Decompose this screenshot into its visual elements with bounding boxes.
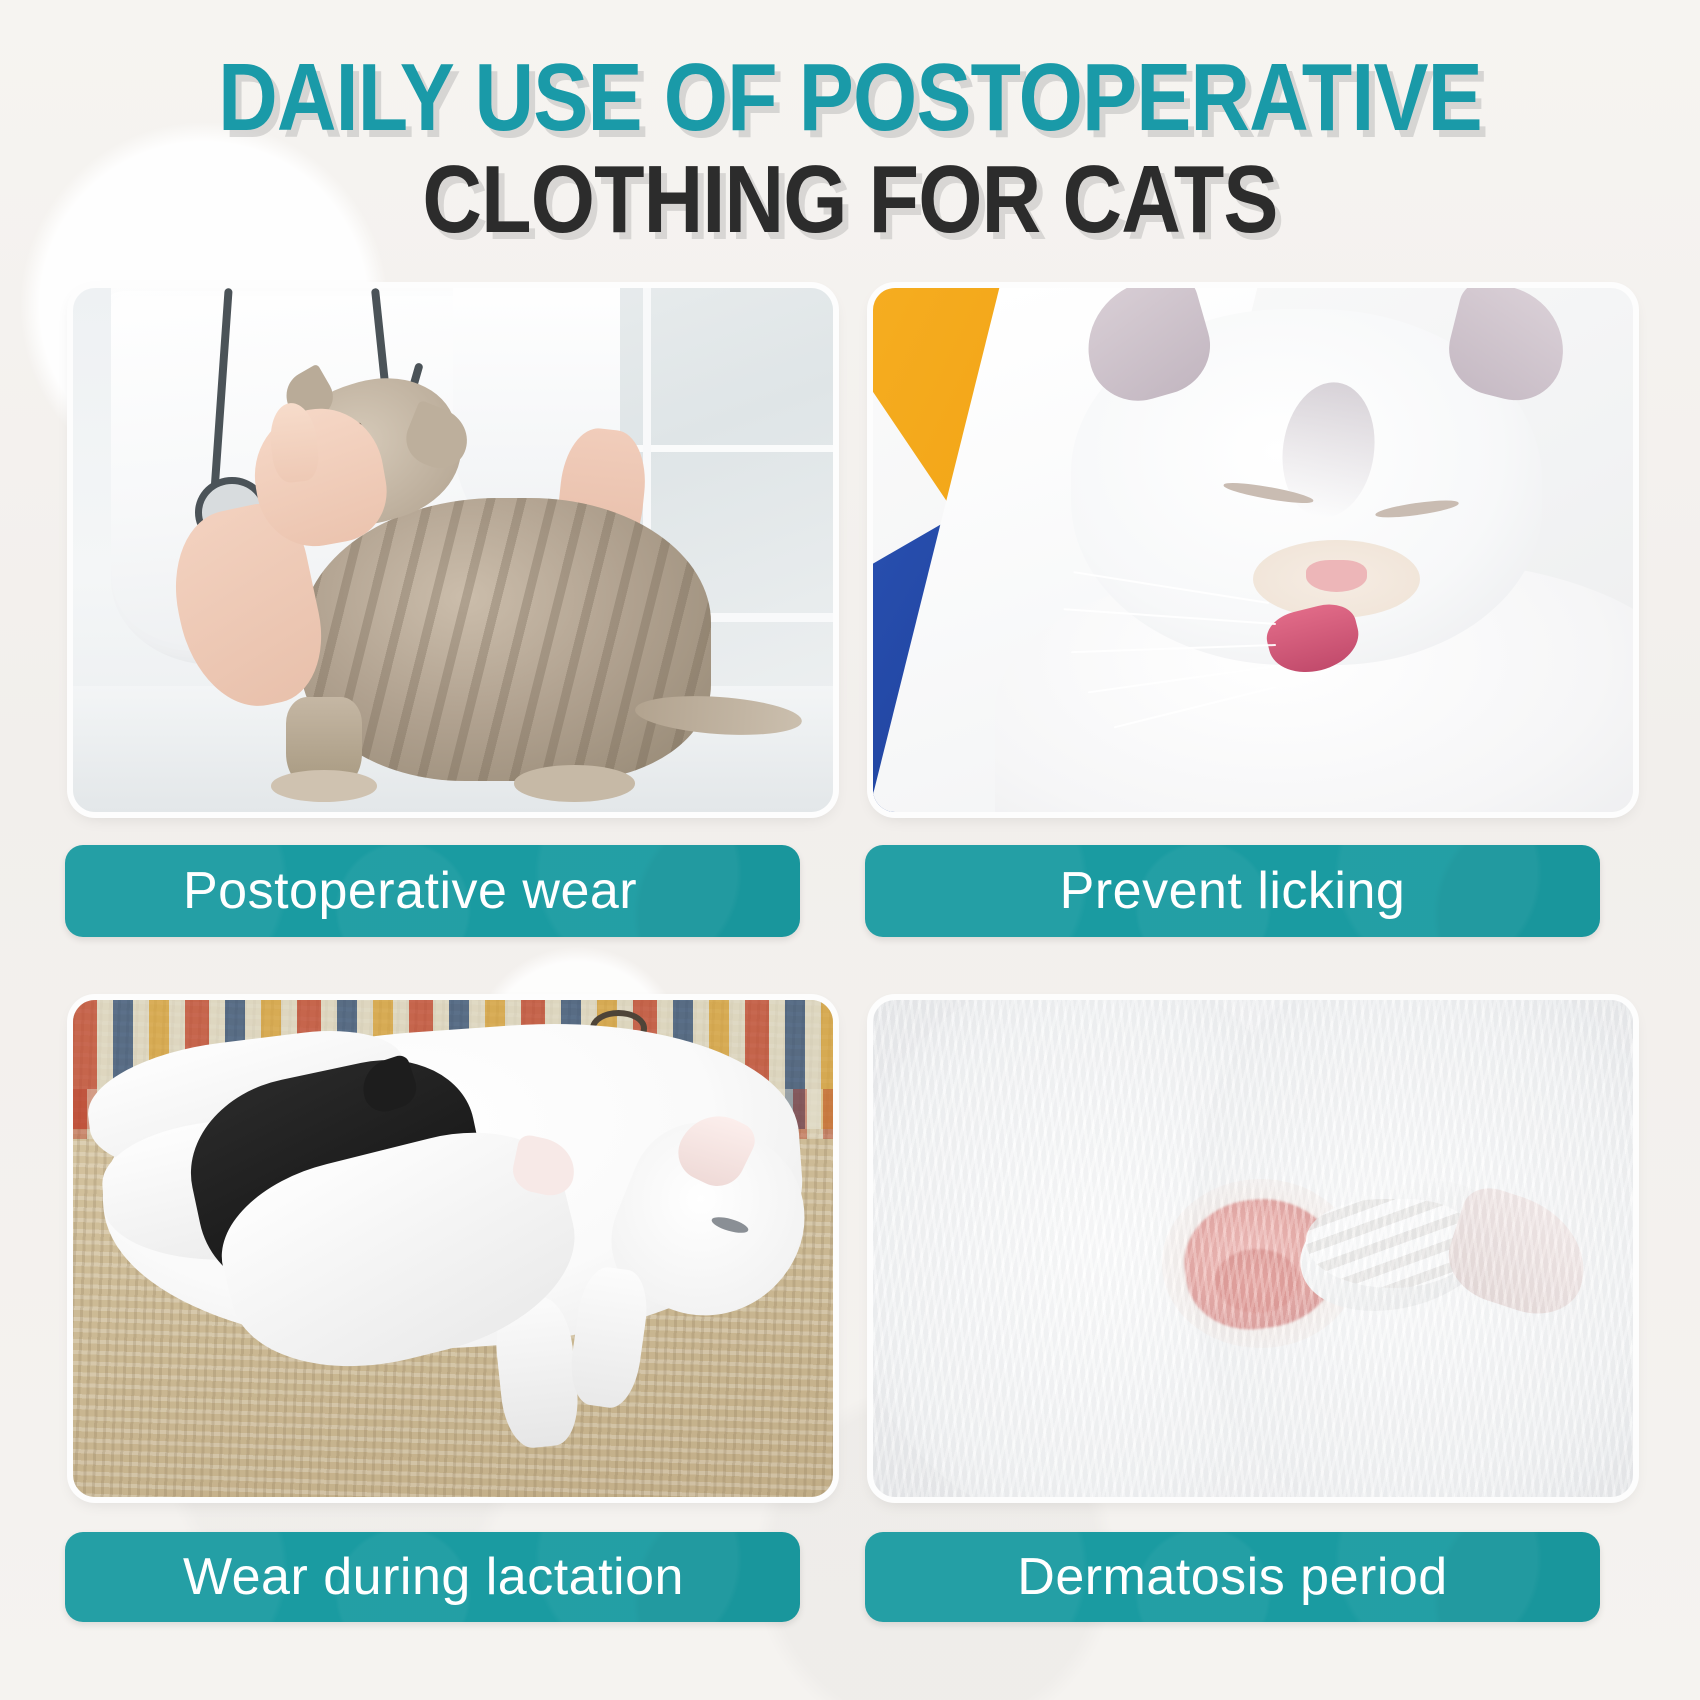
tabby-cat-front-paw bbox=[271, 770, 377, 801]
label-dermatosis-period-text: Dermatosis period bbox=[865, 1547, 1600, 1607]
tabby-cat-body bbox=[301, 498, 711, 781]
tabby-cat-rear-paw bbox=[514, 765, 636, 802]
page-title: DAILY USE OF POSTOPERATIVE CLOTHING FOR … bbox=[0, 52, 1700, 246]
photo-dermatosis-period[interactable] bbox=[873, 1000, 1633, 1497]
photo-wear-during-lactation[interactable] bbox=[73, 1000, 833, 1497]
white-cat-nose bbox=[1306, 560, 1367, 591]
label-postoperative-wear[interactable]: Postoperative wear bbox=[65, 845, 800, 937]
title-line-primary: DAILY USE OF POSTOPERATIVE bbox=[119, 52, 1581, 144]
fur-strand-texture-2 bbox=[873, 1000, 1633, 1497]
label-prevent-licking[interactable]: Prevent licking bbox=[865, 845, 1600, 937]
label-wear-during-lactation-text: Wear during lactation bbox=[65, 1547, 684, 1607]
tabby-cat-stripes bbox=[301, 498, 711, 781]
title-line-secondary: CLOTHING FOR CATS bbox=[119, 154, 1581, 246]
label-prevent-licking-text: Prevent licking bbox=[865, 861, 1600, 921]
photo-prevent-licking[interactable] bbox=[873, 288, 1633, 812]
photo-postoperative-wear[interactable] bbox=[73, 288, 833, 812]
label-dermatosis-period[interactable]: Dermatosis period bbox=[865, 1532, 1600, 1622]
infographic-page: DAILY USE OF POSTOPERATIVE CLOTHING FOR … bbox=[0, 0, 1700, 1700]
label-postoperative-wear-text: Postoperative wear bbox=[65, 861, 637, 921]
label-wear-during-lactation[interactable]: Wear during lactation bbox=[65, 1532, 800, 1622]
